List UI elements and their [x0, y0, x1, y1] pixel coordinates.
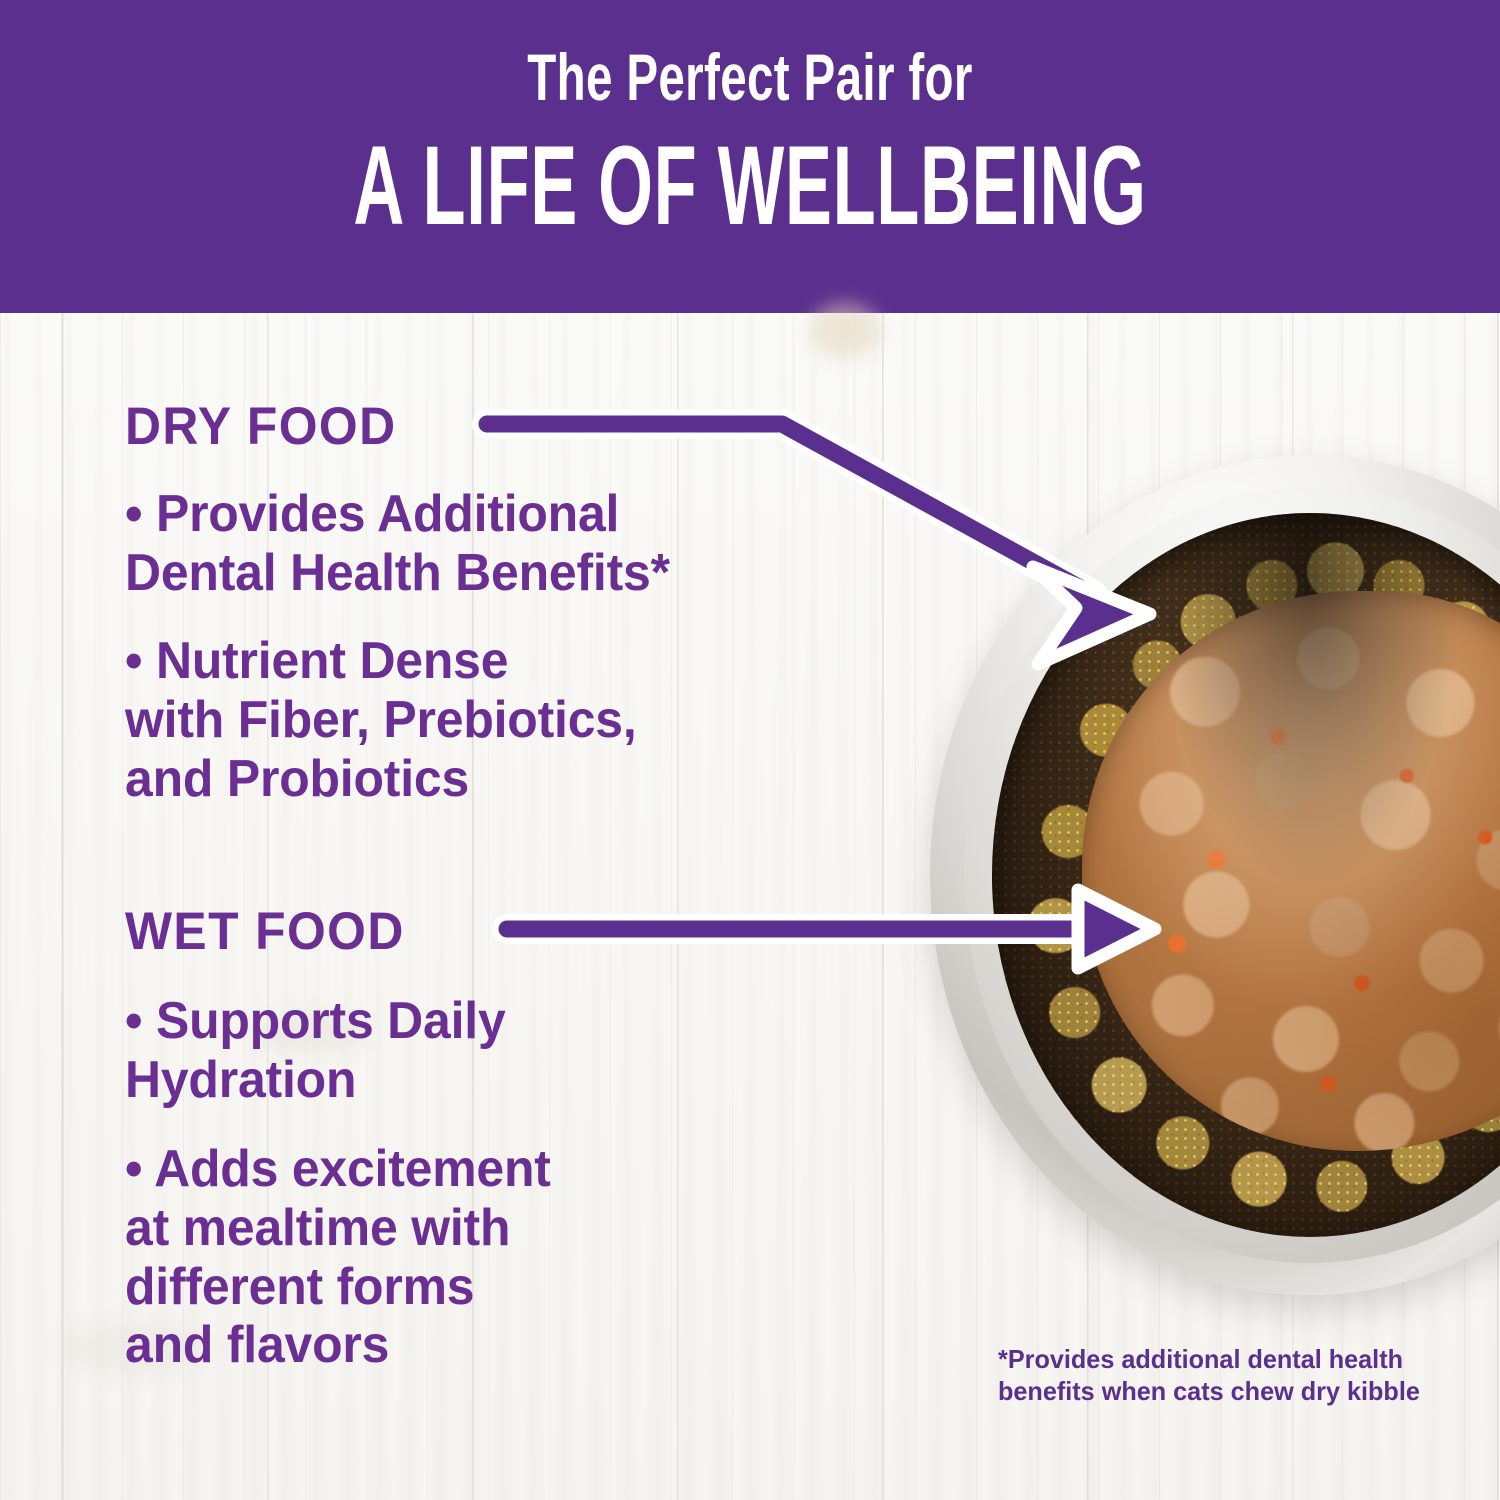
bullet-line: and flavors — [125, 1316, 778, 1375]
section-heading-wet-food: WET FOOD — [125, 905, 764, 958]
bullet-line: and Probiotics — [125, 750, 778, 809]
bullet-line: • Nutrient Dense — [125, 632, 778, 691]
bullet-line: • Provides Additional — [125, 485, 778, 544]
bullet-line: with Fiber, Prebiotics, — [125, 691, 778, 750]
wood-blotch-1 — [810, 303, 880, 358]
dry-food-bullet-1: • Provides Additional Dental Health Bene… — [125, 485, 805, 603]
footnote-line1: *Provides additional dental health — [998, 1344, 1425, 1376]
bullet-line: Hydration — [125, 1051, 778, 1110]
wet-food-gravy — [1082, 591, 1500, 1151]
wet-food-heading-row: WET FOOD — [125, 905, 805, 958]
bullet-line: Dental Health Benefits* — [125, 544, 778, 603]
wet-food-bullet-2: • Adds excitement at mealtime with diffe… — [125, 1140, 805, 1375]
promo-infographic: The Perfect Pair for A LIFE OF WELLBEING — [0, 0, 1500, 1500]
dry-food-bullet-2: • Nutrient Dense with Fiber, Prebiotics,… — [125, 632, 805, 808]
header-title-line2: A LIFE OF WELLBEING — [278, 130, 1223, 242]
wet-food-bullet-1: • Supports Daily Hydration — [125, 992, 805, 1110]
dry-food-heading-row: DRY FOOD — [125, 400, 805, 453]
header-title-line1: The Perfect Pair for — [210, 44, 1290, 110]
footnote: *Provides additional dental health benef… — [998, 1344, 1425, 1407]
pet-food-bowl-photo — [930, 455, 1500, 1300]
bullet-line: different forms — [125, 1258, 778, 1317]
bullet-line: at mealtime with — [125, 1199, 778, 1258]
bullet-line: • Adds excitement — [125, 1140, 778, 1199]
gravy-sheen — [1082, 591, 1500, 1151]
footnote-line2: benefits when cats chew dry kibble — [998, 1376, 1425, 1408]
section-heading-dry-food: DRY FOOD — [125, 400, 764, 453]
bowl-interior — [992, 513, 1500, 1237]
bullet-line: • Supports Daily — [125, 992, 778, 1051]
header-band: The Perfect Pair for A LIFE OF WELLBEING — [0, 0, 1500, 313]
